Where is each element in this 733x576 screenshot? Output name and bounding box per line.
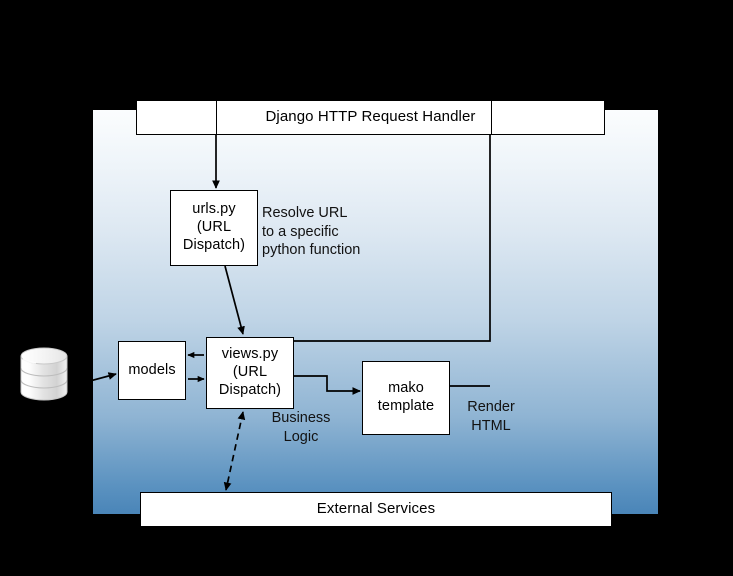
node-mako-line1: mako <box>363 380 449 398</box>
node-views-line2: (URL <box>207 364 293 382</box>
node-models[interactable]: models <box>118 341 186 400</box>
annotation-business-line2: Logic <box>256 428 346 447</box>
django-bar-divider-right <box>491 101 492 134</box>
annotation-resolve-line1: Resolve URL <box>262 204 360 223</box>
node-views-line1: views.py <box>207 346 293 364</box>
annotation-resolve-url: Resolve URL to a specific python functio… <box>262 204 360 260</box>
node-views-line3: Dispatch) <box>207 382 293 400</box>
node-urls-line1: urls.py <box>171 201 257 219</box>
node-mako-template[interactable]: mako template <box>362 361 450 435</box>
node-views-py[interactable]: views.py (URL Dispatch) <box>206 337 294 409</box>
node-models-label: models <box>128 362 175 380</box>
node-external-services[interactable]: External Services <box>140 492 612 527</box>
gradient-backdrop-panel <box>93 110 658 514</box>
annotation-render-line1: Render <box>456 398 526 417</box>
node-mako-line2: template <box>363 398 449 416</box>
annotation-resolve-line3: python function <box>262 241 360 260</box>
node-urls-line3: Dispatch) <box>171 237 257 255</box>
node-external-label: External Services <box>317 500 435 518</box>
annotation-resolve-line2: to a specific <box>262 223 360 242</box>
node-urls-py[interactable]: urls.py (URL Dispatch) <box>170 190 258 266</box>
annotation-render-line2: HTML <box>456 417 526 436</box>
node-urls-line2: (URL <box>171 219 257 237</box>
annotation-render-html: Render HTML <box>456 398 526 435</box>
diagram-canvas: Django HTTP Request Handler urls.py (URL… <box>0 0 733 576</box>
annotation-business-line1: Business <box>256 409 346 428</box>
database-cylinder-icon <box>19 347 69 401</box>
django-bar-divider-left <box>216 101 217 134</box>
node-django-label: Django HTTP Request Handler <box>265 108 475 126</box>
node-django-http-request-handler[interactable]: Django HTTP Request Handler <box>136 100 605 135</box>
annotation-business-logic: Business Logic <box>256 409 346 446</box>
